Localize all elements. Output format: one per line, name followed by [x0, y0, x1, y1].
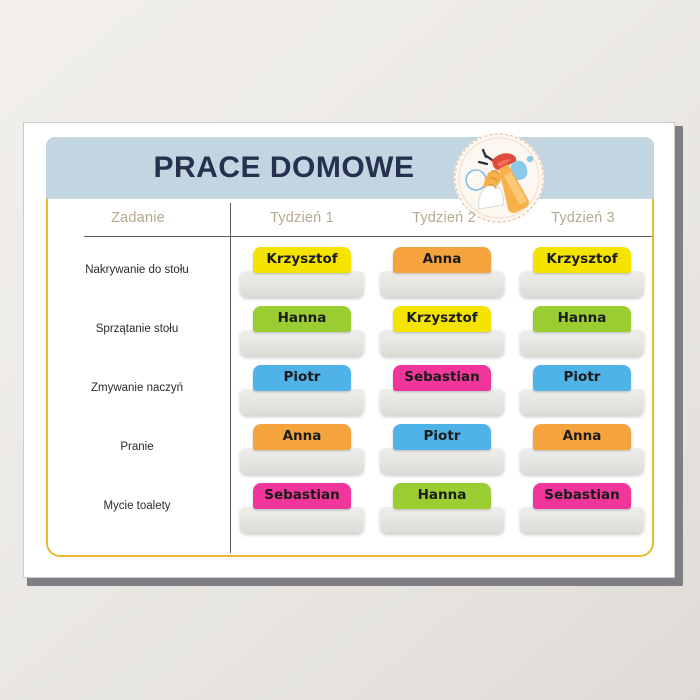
table-row: Zmywanie naczyń Piotr Sebastian Piotr — [48, 359, 652, 418]
name-tag-base — [380, 270, 504, 297]
name-tag-week3[interactable]: Hanna — [520, 306, 644, 356]
name-tag-base — [520, 270, 644, 297]
name-tag-base — [240, 506, 364, 533]
name-tag-week3[interactable]: Sebastian — [520, 483, 644, 533]
name-tag-base — [240, 388, 364, 415]
name-tag-base — [520, 388, 644, 415]
title-band: PRACE DOMOWE — [46, 137, 654, 199]
chore-table: Zadanie Tydzień 1 Tydzień 2 Tydzień 3 Na… — [48, 201, 652, 555]
column-header-week1: Tydzień 1 — [232, 201, 372, 236]
header-underline — [84, 236, 652, 237]
column-header-week3: Tydzień 3 — [514, 201, 652, 236]
chore-chart-sheet: PRACE DOMOWE — [23, 122, 679, 582]
name-tag-base — [380, 506, 504, 533]
name-tag-week1[interactable]: Piotr — [240, 365, 364, 415]
name-tag-base — [240, 447, 364, 474]
name-tag-base — [380, 447, 504, 474]
name-tag-base — [380, 329, 504, 356]
name-tag-week2[interactable]: Hanna — [380, 483, 504, 533]
name-tag-base — [240, 270, 364, 297]
name-tag-week3[interactable]: Krzysztof — [520, 247, 644, 297]
name-tag-label: Krzysztof — [253, 247, 351, 273]
name-tag-week1[interactable]: Anna — [240, 424, 364, 474]
page-title: PRACE DOMOWE — [46, 137, 522, 199]
name-tag-week2[interactable]: Krzysztof — [380, 306, 504, 356]
column-header-week2: Tydzień 2 — [374, 201, 514, 236]
name-tag-base — [520, 447, 644, 474]
name-tag-label: Hanna — [533, 306, 631, 332]
task-name: Pranie — [48, 418, 226, 477]
table-row: Mycie toalety Sebastian Hanna Sebastian — [48, 477, 652, 536]
name-tag-label: Piotr — [533, 365, 631, 391]
task-name: Nakrywanie do stołu — [48, 241, 226, 300]
name-tag-week1[interactable]: Hanna — [240, 306, 364, 356]
name-tag-week1[interactable]: Sebastian — [240, 483, 364, 533]
table-row: Nakrywanie do stołu Krzysztof Anna Krzys… — [48, 241, 652, 300]
name-tag-label: Anna — [533, 424, 631, 450]
name-tag-label: Hanna — [253, 306, 351, 332]
name-tag-week2[interactable]: Sebastian — [380, 365, 504, 415]
name-tag-label: Krzysztof — [533, 247, 631, 273]
name-tag-label: Anna — [253, 424, 351, 450]
name-tag-label: Piotr — [253, 365, 351, 391]
name-tag-week3[interactable]: Piotr — [520, 365, 644, 415]
name-tag-label: Anna — [393, 247, 491, 273]
table-row: Pranie Anna Piotr Anna — [48, 418, 652, 477]
name-tag-label: Piotr — [393, 424, 491, 450]
name-tag-label: Hanna — [393, 483, 491, 509]
name-tag-label: Sebastian — [533, 483, 631, 509]
name-tag-week2[interactable]: Piotr — [380, 424, 504, 474]
table-header-row: Zadanie Tydzień 1 Tydzień 2 Tydzień 3 — [48, 201, 652, 236]
name-tag-base — [380, 388, 504, 415]
task-name: Zmywanie naczyń — [48, 359, 226, 418]
column-header-task: Zadanie — [48, 201, 228, 236]
name-tag-label: Sebastian — [253, 483, 351, 509]
task-name: Sprzątanie stołu — [48, 300, 226, 359]
task-name: Mycie toalety — [48, 477, 226, 536]
name-tag-label: Krzysztof — [393, 306, 491, 332]
sheet-surface: PRACE DOMOWE — [23, 122, 675, 578]
name-tag-base — [520, 329, 644, 356]
name-tag-base — [520, 506, 644, 533]
name-tag-week1[interactable]: Krzysztof — [240, 247, 364, 297]
name-tag-base — [240, 329, 364, 356]
name-tag-label: Sebastian — [393, 365, 491, 391]
name-tag-week2[interactable]: Anna — [380, 247, 504, 297]
name-tag-week3[interactable]: Anna — [520, 424, 644, 474]
table-row: Sprzątanie stołu Hanna Krzysztof Hanna — [48, 300, 652, 359]
